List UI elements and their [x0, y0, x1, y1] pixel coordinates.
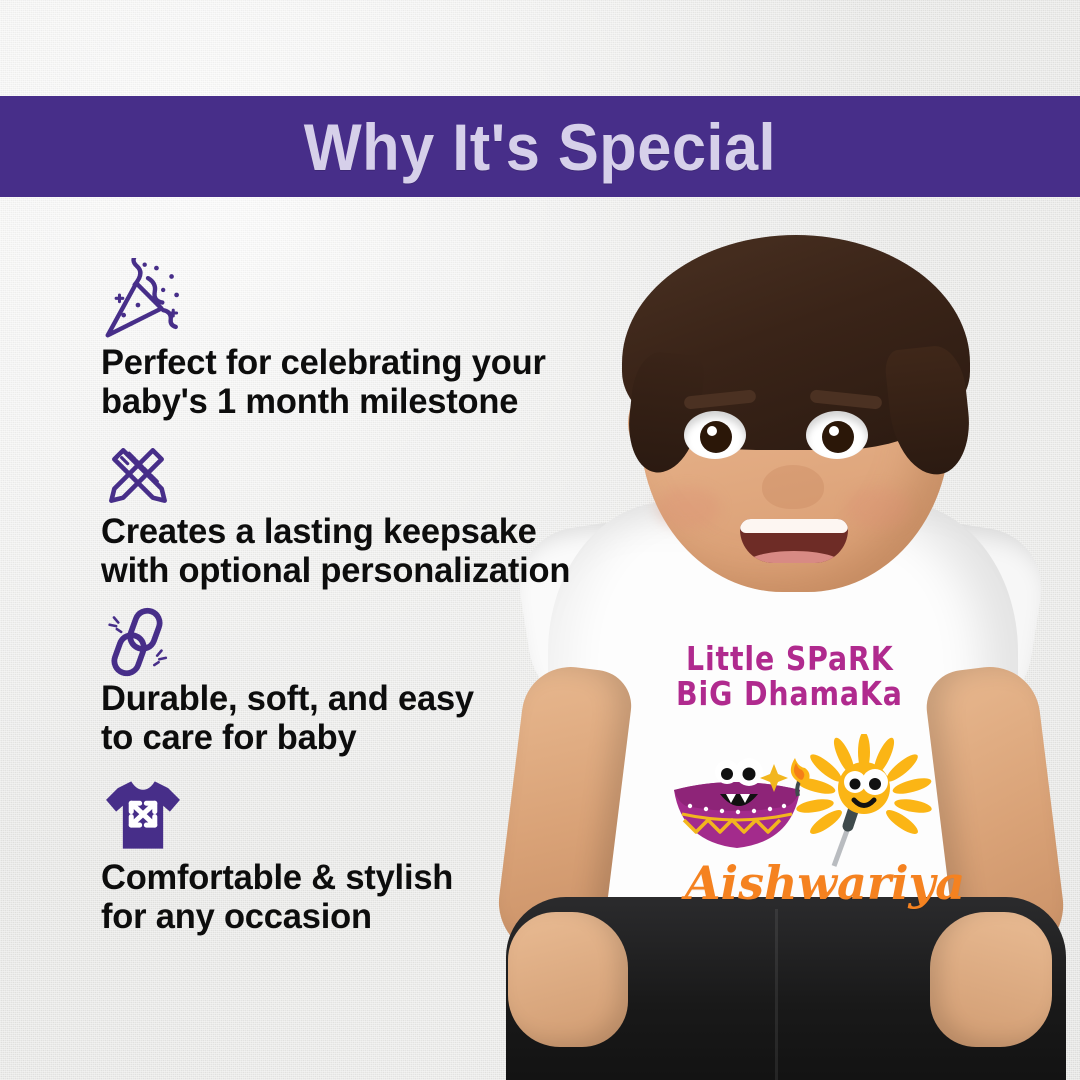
smiling-sparkler-flower-icon: [795, 734, 933, 866]
feature-line-1: Creates a lasting keepsake: [101, 513, 613, 552]
party-popper-icon: [101, 258, 185, 342]
eye-left: [684, 411, 746, 459]
print-headline-line1: Little SPaRK: [686, 642, 939, 677]
mouth: [740, 519, 848, 563]
hand-right: [930, 912, 1052, 1047]
feature-item-durability: Durable, soft, and easy to care for baby: [101, 606, 621, 757]
feature-line-1: Comfortable & stylish: [101, 859, 613, 898]
feature-list: Perfect for celebrating your baby's 1 mo…: [101, 258, 621, 952]
nose: [762, 465, 824, 509]
cheek-right: [846, 487, 910, 529]
feature-item-comfort: Comfortable & stylish for any occasion: [101, 773, 621, 936]
tshirt-print: Little SPaRK BiG DhamaKa: [670, 642, 980, 932]
feature-text: Comfortable & stylish for any occasion: [101, 859, 613, 936]
hair: [622, 235, 970, 450]
header-banner: Why It's Special: [0, 96, 1080, 197]
feature-text: Perfect for celebrating your baby's 1 mo…: [101, 344, 613, 421]
feature-line-1: Perfect for celebrating your: [101, 344, 613, 383]
page-title: Why It's Special: [304, 114, 776, 180]
diwali-art: [670, 734, 980, 869]
chain-link-sparkle-icon: [101, 606, 173, 678]
print-headline-line2: BiG DhamaKa: [676, 677, 937, 712]
feature-line-1: Durable, soft, and easy: [101, 680, 613, 719]
pencil-ruler-icon: [101, 437, 175, 511]
smiling-diya-icon: [674, 758, 810, 848]
feature-line-2: with optional personalization: [101, 552, 613, 591]
feature-line-2: baby's 1 month milestone: [101, 383, 613, 422]
tshirt-expand-icon: [101, 773, 185, 857]
poster-background: Little SPaRK BiG DhamaKa: [0, 0, 1080, 1080]
feature-line-2: to care for baby: [101, 719, 613, 758]
personalized-name: Aishwariya: [660, 860, 990, 906]
feature-line-2: for any occasion: [101, 898, 613, 937]
feature-text: Creates a lasting keepsake with optional…: [101, 513, 613, 590]
feature-text: Durable, soft, and easy to care for baby: [101, 680, 613, 757]
feature-item-personalization: Creates a lasting keepsake with optional…: [101, 437, 621, 590]
feature-item-celebration: Perfect for celebrating your baby's 1 mo…: [101, 258, 621, 421]
eye-right: [806, 411, 868, 459]
cheek-left: [656, 487, 720, 529]
